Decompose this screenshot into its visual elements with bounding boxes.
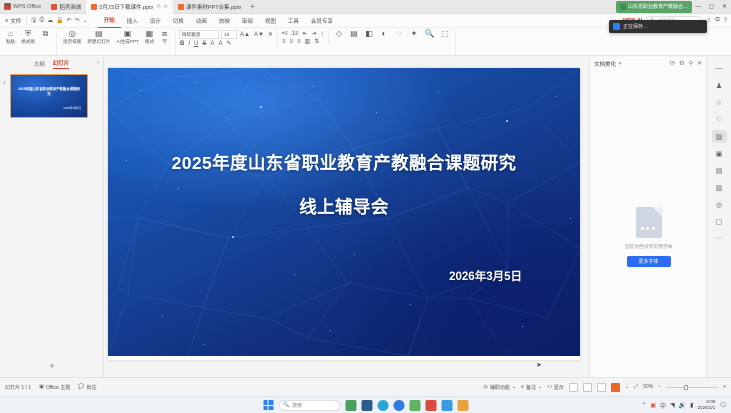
font-row-2: B I U S A A ✎ [179, 40, 274, 47]
collaborate-icon[interactable]: ⧉ [715, 17, 719, 24]
align-right-button[interactable]: ≡ [296, 39, 302, 45]
format-painter-label: 格式刷 [21, 39, 35, 45]
wps-logo-icon: W [4, 3, 11, 10]
sound-icon[interactable]: 🔊 [679, 402, 686, 409]
pptx-icon [178, 4, 184, 10]
design-panel: 文档美化 ▾ ⟳ ⚙ ⚲ ✕ 当前文档没有可用字体 更多字体 [589, 57, 706, 377]
tab-document-2-label: 课件素材PPT合集.pptx [186, 3, 242, 11]
thumbnail-list: 1 2025年度山东省职业教育产教融合课题研究 2026年3月5日 [0, 70, 103, 118]
section-button[interactable]: ⧈ 节 [157, 29, 172, 45]
zoom-slider[interactable] [666, 387, 718, 388]
ribbon-tab-transition[interactable]: 切换 [167, 14, 190, 28]
wps-app-icon[interactable] [425, 400, 436, 411]
cloud-icon[interactable]: ☁ [47, 17, 53, 24]
pptx-icon [91, 4, 97, 10]
ribbon-tab-animation[interactable]: 动画 [190, 14, 213, 28]
clear-format-button[interactable]: ✕ [267, 31, 274, 38]
pin-icon[interactable]: ⚲ [689, 60, 693, 67]
ribbon-tab-member[interactable]: 会员专享 [305, 14, 339, 28]
tools-icon[interactable]: ▥ [712, 181, 727, 194]
right-sidebar-rail: — ♟ ☆ ♡ ▨ ▣ ▤ ▥ ◎ ▢ ··· [706, 57, 731, 377]
network-icon[interactable]: ◥ [670, 402, 675, 409]
sidebar-icon[interactable]: ▢ [712, 215, 727, 228]
favorite-icon[interactable]: ☆ [712, 96, 727, 109]
ribbon-tab-strip: 开始 插入 设计 切换 动画 放映 审阅 视图 工具 会员专享 [98, 14, 339, 28]
chevron-down-icon[interactable]: ▾ [619, 61, 622, 67]
taskbar-clock[interactable]: 6:06 2026/3/1 [697, 399, 715, 411]
qq-app-icon[interactable] [441, 400, 452, 411]
design-panel-header: 文档美化 ▾ ⟳ ⚙ ⚲ ✕ [590, 57, 706, 70]
ai-ppt-icon: ▣ [124, 29, 132, 38]
bold-button[interactable]: B [179, 41, 185, 47]
font-shrink-button[interactable]: A▼ [253, 32, 265, 38]
font-family-select[interactable]: 微软雅黑 [179, 30, 219, 39]
paste-button[interactable]: ⌂ 粘贴 [3, 29, 18, 45]
notes-button[interactable]: ≡ 备注 ⌄ [521, 384, 542, 391]
view-sorter-button[interactable] [583, 383, 592, 392]
slide-layout-icon: ▦ [146, 29, 154, 38]
ribbon-tab-view[interactable]: 视图 [259, 14, 282, 28]
wps-office-label: WPS Office [13, 4, 41, 10]
font-color-button[interactable]: A [217, 41, 223, 47]
slide-title-text[interactable]: 2025年度山东省职业教育产教融合课题研究 [108, 150, 580, 175]
tab-slides[interactable]: 幻灯片 [53, 59, 70, 69]
ribbon-tab-slideshow[interactable]: 放映 [213, 14, 236, 28]
copy-button[interactable]: ⧉ [38, 29, 53, 39]
comment-button[interactable]: 💬 批注 [78, 384, 96, 391]
share-icon[interactable]: ⇪ [706, 17, 711, 24]
dropdown-icon[interactable]: ⌄ [83, 17, 88, 24]
windows-taskbar: 🔍 搜索 ⌃ ▣ 中 ◥ 🔊 ▮ 6:06 2026/3/1 🗨 [0, 396, 731, 413]
minimize-rail-icon[interactable]: — [712, 62, 727, 75]
wps-tray-icon[interactable]: ▣ [650, 402, 656, 409]
new-tab-button[interactable]: + [246, 2, 258, 11]
quick-style-icon: ◧ [365, 29, 373, 38]
bullet-list-button[interactable]: •≡ [281, 31, 289, 37]
design-icon[interactable]: ▨ [712, 130, 727, 143]
ribbon-group-paragraph: •≡ 1≡ ⇤ ⇥ ↕ ≡ ≡ ≡ ▥ ⇅ [278, 29, 329, 46]
ai-ppt-button[interactable]: ▣ AI生成PPT [113, 29, 141, 45]
slide-background: 2025年度山东省职业教育产教融合课题研究 线上辅导会 2026年3月5日 [108, 68, 580, 356]
title-bar-right: 山东省职业教育产教融合… — ▢ ✕ [616, 0, 731, 14]
slide-subtitle-text[interactable]: 线上辅导会 [108, 194, 580, 219]
ribbon-tab-start[interactable]: 开始 [98, 14, 121, 28]
accessibility-icon: ◎ [483, 384, 487, 390]
file-menu-label: 文件 [10, 17, 21, 25]
status-right: ◎ 辅助功能 ⌄ ≡ 备注 ⌄ ▭ 显示 ⌄ ⤢ 50% − [483, 383, 731, 392]
shapes-icon: ◇ [336, 29, 342, 38]
slide-navigator-panel: 大纲 幻灯片 ‹ 1 2025年度山东省职业教育产教融合课题研究 2026年3月… [0, 57, 104, 377]
section-icon: ⧈ [162, 29, 167, 38]
taskbar-center: 🔍 搜索 [263, 400, 468, 411]
close-button[interactable]: ✕ [718, 0, 731, 14]
zoom-out-button[interactable]: − [658, 384, 661, 390]
chrome-app-icon[interactable] [393, 400, 404, 411]
save-toast-notification: 正在保存… [609, 20, 707, 33]
increase-indent-button[interactable]: ⇥ [310, 30, 317, 37]
display-button[interactable]: ▭ 显示 [547, 384, 564, 391]
tab-close-icon[interactable]: ✕ [164, 4, 168, 10]
more-fonts-button[interactable]: 更多字体 [627, 256, 671, 267]
slide-layout-label: 版式 [145, 39, 154, 45]
clock-date: 2026/3/1 [697, 405, 715, 411]
ribbon-tab-design[interactable]: 设计 [144, 14, 167, 28]
display-icon: ▭ [547, 384, 552, 390]
design-panel-empty-state: 当前文档没有可用字体 更多字体 [590, 207, 707, 267]
highlight-button[interactable]: ✎ [225, 40, 232, 47]
line-spacing-button[interactable]: ↕ [320, 31, 325, 37]
fill-icon: ◐ [382, 29, 387, 38]
close-icon[interactable]: ✕ [697, 60, 702, 67]
numbered-list-button[interactable]: 1≡ [291, 31, 300, 37]
accessibility-button[interactable]: ◎ 辅助功能 ⌄ [483, 384, 516, 391]
refresh-icon[interactable]: ⟳ [670, 60, 675, 67]
more-icon[interactable]: ··· [712, 232, 727, 245]
ribbon-tab-insert[interactable]: 插入 [121, 14, 144, 28]
design-panel-title: 文档美化 [594, 60, 616, 68]
view-slideshow-button[interactable] [611, 383, 620, 392]
theme-status[interactable]: ▣ Office 主题 [39, 384, 70, 391]
file-menu-button[interactable]: ≡ 文件 [0, 14, 26, 28]
redo-icon[interactable]: ↷ [75, 17, 80, 24]
tab-document-2[interactable]: 课件素材PPT合集.pptx [173, 0, 247, 14]
new-slide-label: 新建幻灯片 [87, 39, 110, 45]
design-panel-actions: ⟳ ⚙ ⚲ ✕ [670, 60, 702, 67]
shapes-button[interactable]: ◇ [332, 29, 347, 38]
slide-editor[interactable]: 2025年度山东省职业教育产教融合课题研究 线上辅导会 2026年3月5日 [108, 68, 580, 360]
slide-canvas-area: 2025年度山东省职业教育产教融合课题研究 线上辅导会 2026年3月5日 ➤ [104, 57, 588, 377]
ribbon-group-font: 微软雅黑 18 A▲ A▼ ✕ B I U S A A ✎ [176, 29, 278, 48]
tab-document-1-label: 2月23日下载课件.pptx [99, 3, 153, 11]
window-controls: — ▢ ✕ [692, 0, 731, 14]
explorer-app-icon[interactable] [361, 400, 372, 411]
view-normal-button[interactable] [569, 383, 578, 392]
wps-presentation-window: W WPS Office 稻壳商城 2月23日下载课件.pptx ⟳ ✕ 课件素… [0, 0, 731, 413]
ai-ppt-label: AI生成PPT [116, 39, 138, 45]
text-shadow-button[interactable]: A [209, 41, 215, 47]
save-icon[interactable]: 🖫 [31, 16, 36, 26]
arrange-button[interactable]: ▤ [347, 29, 362, 38]
tab-refresh-icon[interactable]: ⟳ [156, 4, 160, 10]
quick-style-button[interactable]: ◧ [362, 29, 377, 38]
tab-document-1[interactable]: 2月23日下载课件.pptx ⟳ ✕ [86, 0, 173, 14]
minimize-button[interactable]: — [692, 0, 705, 14]
settings-icon[interactable]: ⚙ [679, 60, 684, 67]
mouse-cursor: ➤ [536, 361, 542, 369]
maximize-button[interactable]: ▢ [705, 0, 718, 14]
status-bar: 幻灯片 1 / 1 ▣ Office 主题 💬 批注 ◎ 辅助功能 ⌄ ≡ 备注… [0, 377, 731, 396]
tab-shop[interactable]: 稻壳商城 [46, 0, 86, 14]
toast-message: 正在保存… [623, 23, 648, 30]
tab-shop-label: 稻壳商城 [59, 3, 81, 11]
slide-thumb-number: 1 [3, 80, 6, 85]
like-icon[interactable]: ♡ [712, 113, 727, 126]
template-icon[interactable]: ▣ [712, 147, 727, 160]
slide-thumbnail-1[interactable]: 2025年度山东省职业教育产教融合课题研究 2026年3月5日 [10, 74, 88, 118]
search-icon: 🔍 [283, 402, 289, 408]
paste-icon: ⌂ [8, 29, 13, 38]
account-pill[interactable]: 山东省职业教育产教融合… [616, 1, 692, 13]
view-reading-button[interactable] [597, 383, 606, 392]
select-button[interactable]: ⬚ [437, 29, 452, 38]
paragraph-row-1: •≡ 1≡ ⇤ ⇥ ↕ [281, 30, 325, 37]
wps-office-logo[interactable]: W WPS Office [0, 0, 46, 14]
ribbon-tab-tools[interactable]: 工具 [282, 14, 305, 28]
add-slide-button[interactable]: + [0, 361, 104, 371]
navigator-tabs: 大纲 幻灯片 ‹ [0, 57, 103, 70]
ribbon-group-drawing: ◇ ▤ ◧ ◐ ◌ ✦ 🔍 ⬚ [329, 29, 457, 55]
align-center-button[interactable]: ≡ [289, 39, 295, 45]
weather-app-icon[interactable] [345, 400, 356, 411]
slide-count-status: 幻灯片 1 / 1 [5, 384, 31, 391]
account-icon [620, 4, 626, 10]
tab-outline[interactable]: 大纲 [34, 60, 45, 68]
outline-button[interactable]: ◌ [392, 29, 407, 38]
help-rail-icon[interactable]: ◎ [712, 198, 727, 211]
layout-button[interactable]: ◎ 逐页排版 [60, 29, 84, 45]
new-slide-button[interactable]: ▤ 新建幻灯片 [84, 29, 113, 45]
start-button-icon[interactable] [263, 400, 273, 410]
zoom-level-label[interactable]: 50% [643, 384, 653, 390]
photos-app-icon[interactable] [457, 400, 468, 411]
title-bar: W WPS Office 稻壳商城 2月23日下载课件.pptx ⟳ ✕ 课件素… [0, 0, 731, 14]
status-left: 幻灯片 1 / 1 ▣ Office 主题 💬 批注 [0, 384, 96, 391]
align-left-button[interactable]: ≡ [281, 39, 287, 45]
new-slide-icon: ▤ [95, 29, 103, 38]
quick-access-toolbar: 🖫 ⎙ ☁ 🔒 ↶ ↷ ⌄ [26, 16, 92, 26]
toast-icon [613, 23, 620, 30]
taskbar-search-placeholder: 搜索 [292, 402, 302, 409]
input-method-icon[interactable]: 中 [660, 401, 666, 410]
member-icon[interactable]: ♟ [712, 79, 727, 92]
section-label: 节 [162, 39, 167, 45]
font-size-select[interactable]: 18 [221, 30, 237, 39]
undo-icon[interactable]: ↶ [67, 17, 72, 24]
layout-label: 逐页排版 [63, 39, 81, 45]
copy-icon: ⧉ [43, 29, 49, 38]
format-painter-button[interactable]: ⛨ 格式刷 [18, 29, 38, 45]
effects-button[interactable]: ✦ [407, 29, 422, 38]
resource-icon[interactable]: ▤ [712, 164, 727, 177]
effects-icon: ✦ [411, 29, 418, 38]
chevron-down-icon: ⌄ [512, 384, 516, 390]
hamburger-icon: ≡ [5, 18, 8, 24]
ribbon-group-slides: ◎ 逐页排版 ▤ 新建幻灯片 ▣ AI生成PPT ▦ 版式 ⧈ 节 [57, 29, 176, 55]
format-painter-icon: ⛨ [25, 29, 31, 38]
taskbar-search-input[interactable]: 🔍 搜索 [278, 400, 340, 411]
account-pill-label: 山东省职业教育产教融合… [628, 3, 688, 10]
fit-to-window-button[interactable]: ⤢ [634, 384, 638, 390]
find-button[interactable]: 🔍 [422, 29, 438, 38]
notes-icon: ≡ [521, 384, 524, 390]
find-icon: 🔍 [425, 29, 435, 38]
zoom-in-button[interactable]: + [723, 384, 726, 390]
notification-center-icon[interactable]: 🗨 [719, 402, 727, 409]
zoom-slider-handle[interactable] [684, 385, 688, 390]
collapse-panel-icon[interactable]: ‹ [97, 60, 99, 66]
show-hidden-icons-icon[interactable]: ⌃ [641, 402, 646, 409]
ribbon-tab-review[interactable]: 审阅 [236, 14, 259, 28]
theme-icon: ▣ [39, 384, 44, 390]
empty-document-icon [636, 207, 662, 238]
battery-icon[interactable]: ▮ [690, 402, 693, 409]
layout-icon: ◎ [69, 29, 76, 38]
italic-button[interactable]: I [187, 41, 191, 47]
system-tray: ⌃ ▣ 中 ◥ 🔊 ▮ 6:06 2026/3/1 🗨 [641, 399, 727, 411]
paste-label: 粘贴 [6, 39, 15, 45]
chevron-down-icon: ⌄ [538, 384, 542, 390]
strikethrough-button[interactable]: S [201, 41, 207, 47]
edge-app-icon[interactable] [377, 400, 388, 411]
thumb-date: 2026年3月5日 [63, 106, 81, 110]
font-grow-button[interactable]: A▲ [239, 32, 251, 38]
paragraph-row-2: ≡ ≡ ≡ ▥ ⇅ [281, 38, 325, 45]
slide-layout-button[interactable]: ▦ 版式 [142, 29, 157, 45]
shop-icon [51, 4, 57, 10]
thumb-title: 2025年度山东省职业教育产教融合课题研究 [17, 87, 81, 97]
mail-app-icon[interactable] [409, 400, 420, 411]
lock-icon[interactable]: 🔒 [56, 17, 63, 24]
select-icon: ⬚ [441, 29, 449, 38]
view-dropdown-icon[interactable]: ⌄ [625, 384, 629, 390]
help-icon[interactable]: ? [724, 18, 727, 24]
decrease-indent-button[interactable]: ⇤ [301, 30, 308, 37]
ribbon-group-clipboard: ⌂ 粘贴 ⛨ 格式刷 ⧉ [0, 29, 57, 55]
underline-button[interactable]: U [193, 41, 199, 47]
arrange-icon: ▤ [350, 29, 358, 38]
print-icon[interactable]: ⎙ [39, 17, 44, 24]
comment-icon: 💬 [78, 384, 84, 390]
slide-date-text[interactable]: 2026年3月5日 [449, 268, 522, 284]
design-panel-empty-text: 当前文档没有可用字体 [590, 243, 707, 250]
columns-button[interactable]: ▥ [304, 38, 312, 45]
font-row-1: 微软雅黑 18 A▲ A▼ ✕ [179, 30, 274, 39]
text-direction-button[interactable]: ⇅ [313, 38, 320, 45]
outline-icon: ◌ [397, 29, 402, 38]
fill-button[interactable]: ◐ [377, 29, 392, 38]
